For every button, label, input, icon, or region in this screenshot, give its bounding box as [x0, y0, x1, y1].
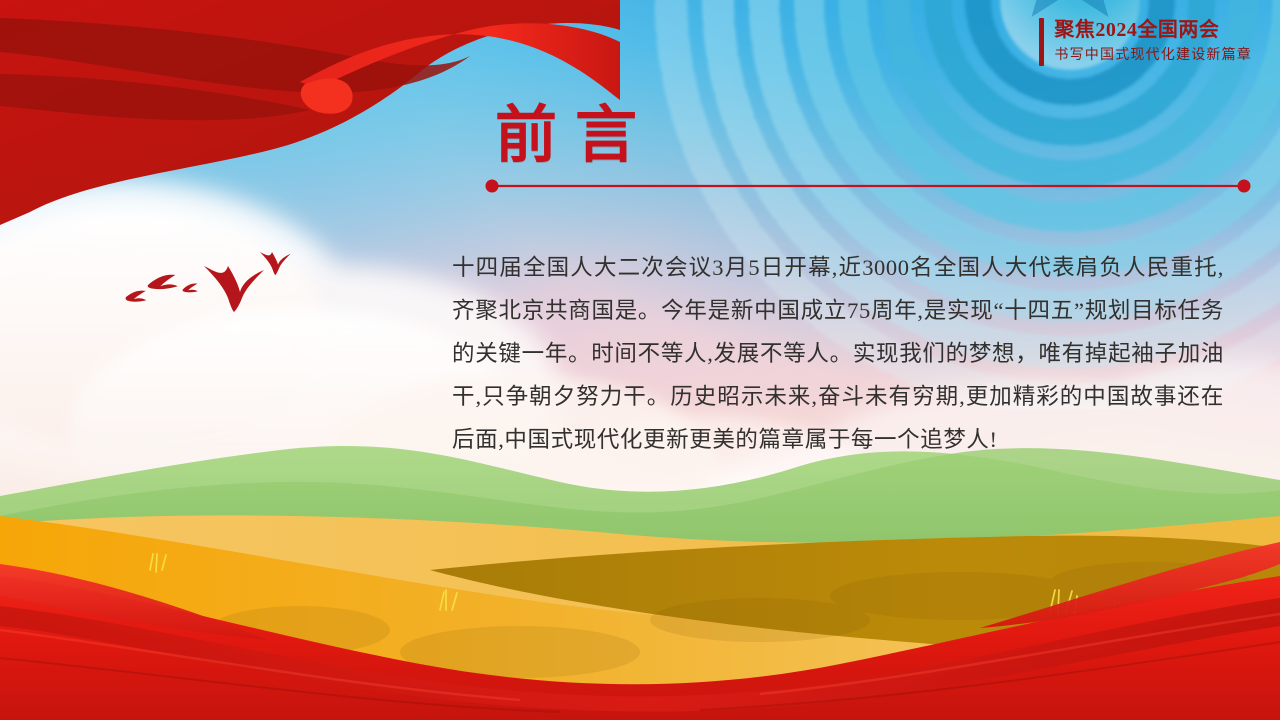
divider-dot-right — [1238, 180, 1251, 193]
bird-icon — [204, 266, 264, 312]
header-accent-bar — [1039, 18, 1044, 66]
header-sub-title: 书写中国式现代化建设新篇章 — [1054, 45, 1252, 66]
preface-body-text: 十四届全国人大二次会议3月5日开幕,近3000名全国人大代表肩负人民重托,齐聚北… — [452, 246, 1224, 461]
red-ribbon-bottom — [0, 480, 1280, 720]
bird-icon — [260, 252, 291, 275]
header-text-group: 聚焦2024全国两会 书写中国式现代化建设新篇章 — [1054, 18, 1252, 66]
header-main-title: 聚焦2024全国两会 — [1054, 18, 1252, 43]
title-divider — [484, 178, 1252, 194]
bird-icon — [126, 291, 147, 302]
divider-dot-left — [486, 180, 499, 193]
slide-canvas: 聚焦2024全国两会 书写中国式现代化建设新篇章 前言 十四届全国人大二次会议3… — [0, 0, 1280, 720]
page-title: 前言 — [495, 104, 655, 169]
bird-icon — [183, 283, 198, 292]
header-campaign-badge: 聚焦2024全国两会 书写中国式现代化建设新篇章 — [1039, 18, 1252, 66]
bird-icon — [148, 275, 178, 289]
flying-birds-decoration — [110, 238, 320, 333]
